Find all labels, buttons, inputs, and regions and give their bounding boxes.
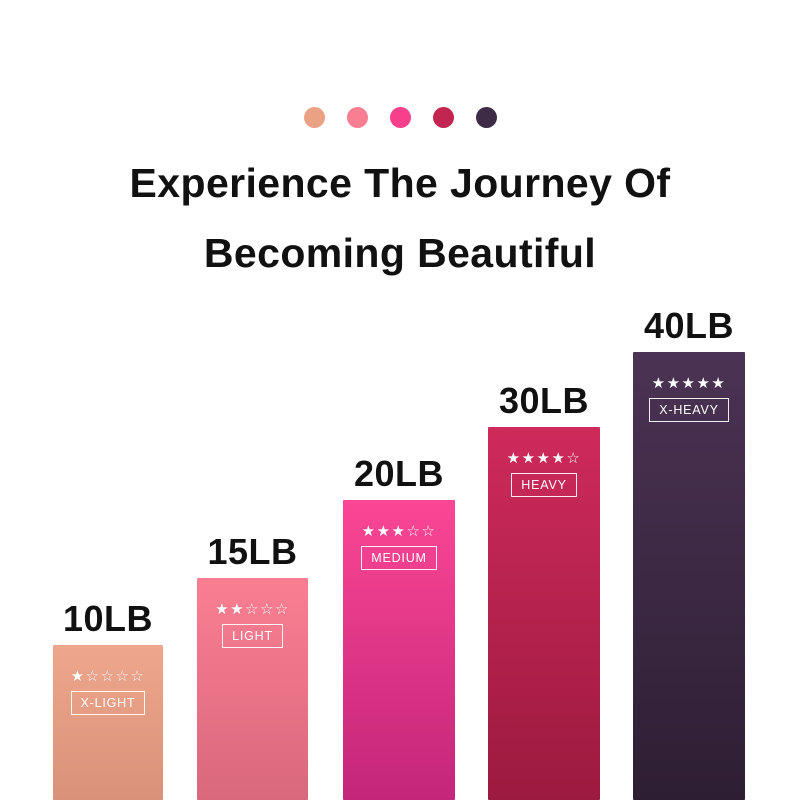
resistance-band-bar-chart: 10LB★☆☆☆☆X-LIGHT15LB★★☆☆☆LIGHT20LB★★★☆☆M… — [0, 0, 800, 800]
resistance-level-label-15lb: LIGHT — [222, 624, 283, 649]
bar-value-label-10lb: 10LB — [63, 601, 153, 637]
resistance-level-label-40lb: X-HEAVY — [649, 398, 729, 423]
rating-stars-icon-15lb: ★★☆☆☆ — [215, 602, 290, 617]
bar-value-label-30lb: 30LB — [499, 383, 589, 419]
bar-value-label-20lb: 20LB — [354, 456, 444, 492]
bar-badge-40lb: ★★★★★X-HEAVY — [633, 376, 745, 423]
bar-badge-10lb: ★☆☆☆☆X-LIGHT — [53, 669, 163, 716]
bar-group-40lb[interactable]: 40LB★★★★★X-HEAVY — [633, 292, 745, 800]
bar-group-10lb[interactable]: 10LB★☆☆☆☆X-LIGHT — [53, 585, 163, 800]
bar-group-20lb[interactable]: 20LB★★★☆☆MEDIUM — [343, 440, 455, 800]
bar-value-label-15lb: 15LB — [207, 534, 297, 570]
bar-group-15lb[interactable]: 15LB★★☆☆☆LIGHT — [197, 518, 308, 800]
rating-stars-icon-20lb: ★★★☆☆ — [362, 524, 437, 539]
rating-stars-icon-40lb: ★★★★★ — [652, 376, 727, 391]
bar-value-label-40lb: 40LB — [644, 308, 734, 344]
bar-badge-30lb: ★★★★☆HEAVY — [488, 451, 600, 498]
resistance-level-label-10lb: X-LIGHT — [71, 691, 146, 716]
bar-badge-20lb: ★★★☆☆MEDIUM — [343, 524, 455, 571]
bar-badge-15lb: ★★☆☆☆LIGHT — [197, 602, 308, 649]
rating-stars-icon-10lb: ★☆☆☆☆ — [71, 669, 146, 684]
product-infographic: Experience The Journey Of Becoming Beaut… — [0, 0, 800, 800]
resistance-level-label-30lb: HEAVY — [511, 473, 576, 498]
bar-group-30lb[interactable]: 30LB★★★★☆HEAVY — [488, 367, 600, 800]
rating-stars-icon-30lb: ★★★★☆ — [507, 451, 582, 466]
resistance-level-label-20lb: MEDIUM — [361, 546, 437, 571]
